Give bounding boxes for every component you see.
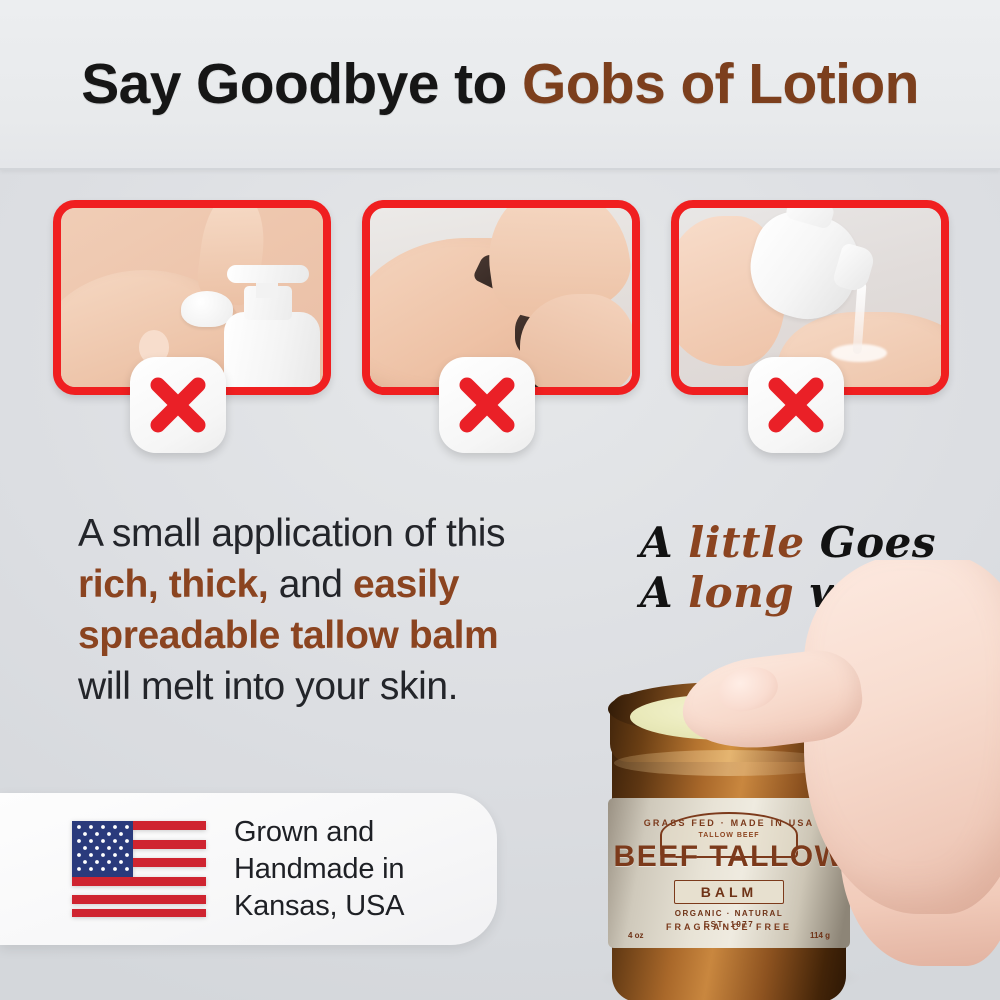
page-title: Say Goodbye to Gobs of Lotion: [0, 55, 1000, 115]
rejected-method-3: [671, 200, 949, 395]
usa-flag-icon: [72, 821, 206, 917]
page-title-dark: Say Goodbye to: [81, 52, 507, 116]
made-in-usa-badge: Grown andHandmade inKansas, USA: [0, 793, 497, 945]
body-copy-highlight-1: rich, thick,: [78, 563, 268, 606]
product-jar-photo: GRASS FED · MADE IN USA TALLOW BEEF BEEF…: [590, 560, 1000, 1000]
body-copy-segment-1: A small application of this: [78, 512, 505, 555]
infographic-canvas: Say Goodbye to Gobs of Lotion: [0, 0, 1000, 1000]
rejected-methods-row: [53, 200, 949, 395]
label-banner-balm: BALM: [674, 880, 784, 904]
product-label: GRASS FED · MADE IN USA TALLOW BEEF BEEF…: [608, 798, 850, 948]
label-product-name: BEEF TALLOW: [608, 840, 850, 874]
rejected-method-2: [362, 200, 640, 395]
rejected-method-1: [53, 200, 331, 395]
label-net-g: 114 g: [810, 931, 830, 940]
body-copy-segment-2: and: [268, 563, 353, 606]
x-mark-icon: [748, 357, 844, 453]
made-in-usa-text: Grown andHandmade inKansas, USA: [234, 814, 404, 925]
body-copy: A small application of this rich, thick,…: [78, 508, 548, 712]
x-mark-icon: [130, 357, 226, 453]
x-mark-icon: [439, 357, 535, 453]
page-title-brown: Gobs of Lotion: [522, 52, 919, 116]
body-copy-segment-3: will melt into your skin.: [78, 665, 458, 708]
label-net-oz: 4 oz: [628, 931, 644, 940]
